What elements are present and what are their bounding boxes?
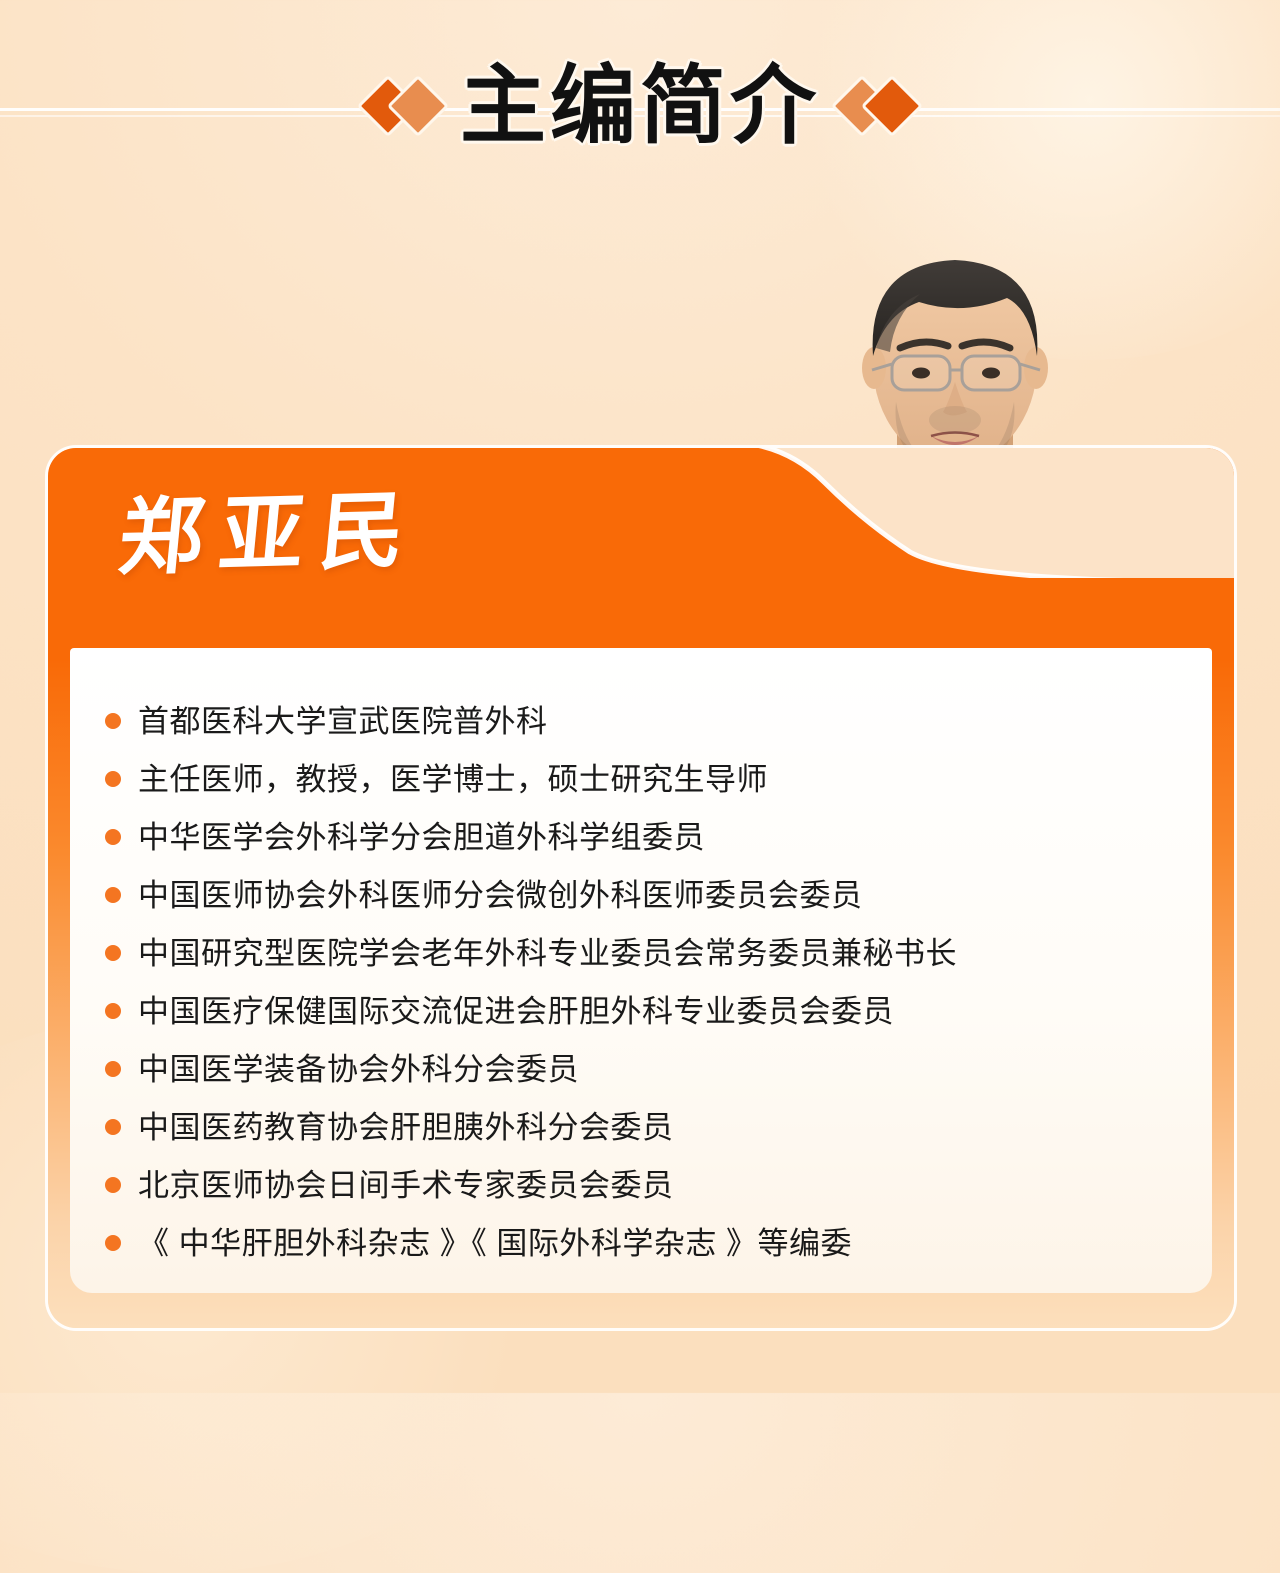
list-item: 主任医师，教授，医学博士，硕士研究生导师 [105, 750, 1212, 808]
bullet-dot-icon [105, 1003, 121, 1019]
header-diamonds-right [840, 84, 914, 128]
bullet-dot-icon [105, 1119, 121, 1135]
list-item: 《 中华肝胆外科杂志 》《 国际外科学杂志 》等编委 [105, 1214, 1212, 1272]
bullet-dot-icon [105, 1235, 121, 1251]
credential-text: 中国研究型医院学会老年外科专业委员会常务委员兼秘书长 [138, 938, 957, 969]
list-item: 首都医科大学宣武医院普外科 [105, 692, 1212, 750]
list-item: 中华医学会外科学分会胆道外科学组委员 [105, 808, 1212, 866]
credential-text: 主任医师，教授，医学博士，硕士研究生导师 [138, 764, 768, 795]
bullet-dot-icon [105, 945, 121, 961]
bullet-dot-icon [105, 771, 121, 787]
credentials-list: 首都医科大学宣武医院普外科 主任医师，教授，医学博士，硕士研究生导师 中华医学会… [70, 648, 1212, 1272]
list-item: 中国医疗保健国际交流促进会肝胆外科专业委员会委员 [105, 982, 1212, 1040]
page-header: 主编简介 [0, 46, 1280, 166]
credential-text: 中国医疗保健国际交流促进会肝胆外科专业委员会委员 [138, 996, 894, 1027]
page-title: 主编简介 [460, 63, 820, 149]
bullet-dot-icon [105, 829, 121, 845]
credential-text: 首都医科大学宣武医院普外科 [138, 706, 548, 737]
credential-text: 中国医师协会外科医师分会微创外科医师委员会委员 [138, 880, 863, 911]
bullet-dot-icon [105, 1061, 121, 1077]
list-item: 中国医药教育协会肝胆胰外科分会委员 [105, 1098, 1212, 1156]
list-item: 北京医师协会日间手术专家委员会委员 [105, 1156, 1212, 1214]
credential-text: 《 中华肝胆外科杂志 》《 国际外科学杂志 》等编委 [138, 1228, 852, 1259]
bullet-dot-icon [105, 887, 121, 903]
credential-text: 北京医师协会日间手术专家委员会委员 [138, 1170, 674, 1201]
editor-name-signature: 郑亚民 [116, 488, 425, 580]
bullet-dot-icon [105, 713, 121, 729]
list-item: 中国医师协会外科医师分会微创外科医师委员会委员 [105, 866, 1212, 924]
credential-text: 中国医药教育协会肝胆胰外科分会委员 [138, 1112, 674, 1143]
list-item: 中国研究型医院学会老年外科专业委员会常务委员兼秘书长 [105, 924, 1212, 982]
credentials-card: 首都医科大学宣武医院普外科 主任医师，教授，医学博士，硕士研究生导师 中华医学会… [70, 648, 1212, 1293]
credential-text: 中华医学会外科学分会胆道外科学组委员 [138, 822, 705, 853]
card-top-right-notch [714, 448, 1234, 578]
bullet-dot-icon [105, 1177, 121, 1193]
credential-text: 中国医学装备协会外科分会委员 [138, 1054, 579, 1085]
list-item: 中国医学装备协会外科分会委员 [105, 1040, 1212, 1098]
header-diamonds-left [366, 84, 440, 128]
